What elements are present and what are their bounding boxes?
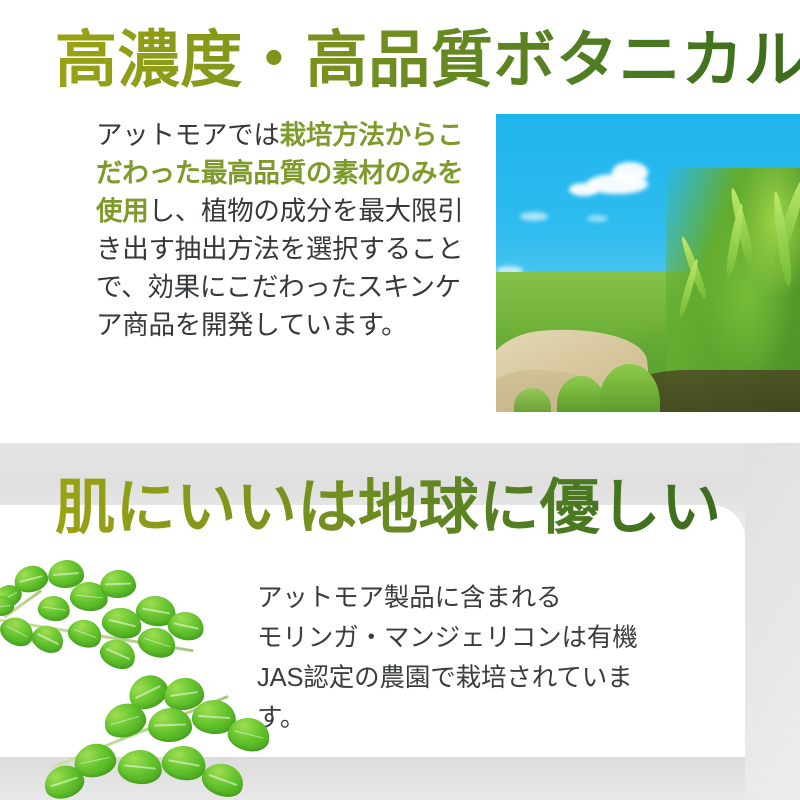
section1-body-text: アットモアでは栽培方法からこだわった最高品質の素材のみを使用し、植物の成分を最大… — [96, 116, 468, 344]
cloud-icon — [612, 162, 648, 183]
cloud-icon — [569, 183, 599, 196]
s2-line3: JAS認定の農園で栽培されていま — [257, 658, 707, 698]
product-info-page: 高濃度・高品質ボタニカル アットモアでは栽培方法からこだわった最高品質の素材のみ… — [0, 0, 800, 800]
s1-line7-plain: しています。 — [253, 310, 407, 340]
section2-heading: 肌にいいは地球に優しい — [55, 474, 722, 542]
page-right-background — [745, 443, 800, 800]
s2-line1: アットモア製品に含まれる — [257, 578, 707, 618]
s2-line4: す。 — [257, 698, 707, 738]
section2-body-text: アットモア製品に含まれる モリンガ・マンジェリコンは有機 JAS認定の農園で栽培… — [257, 578, 707, 738]
s1-line1-highlight: 栽培方法から — [280, 120, 437, 150]
page-bottom-background — [0, 757, 800, 800]
s1-line1-plain: アットモアでは — [96, 120, 280, 150]
s2-line2: モリンガ・マンジェリコンは有機 — [257, 618, 707, 658]
section1-heading: 高濃度・高品質ボタニカル — [55, 26, 800, 96]
s1-line3-plain: し、植物の成分を — [148, 196, 358, 226]
sugarcane-field-photo — [496, 114, 800, 412]
